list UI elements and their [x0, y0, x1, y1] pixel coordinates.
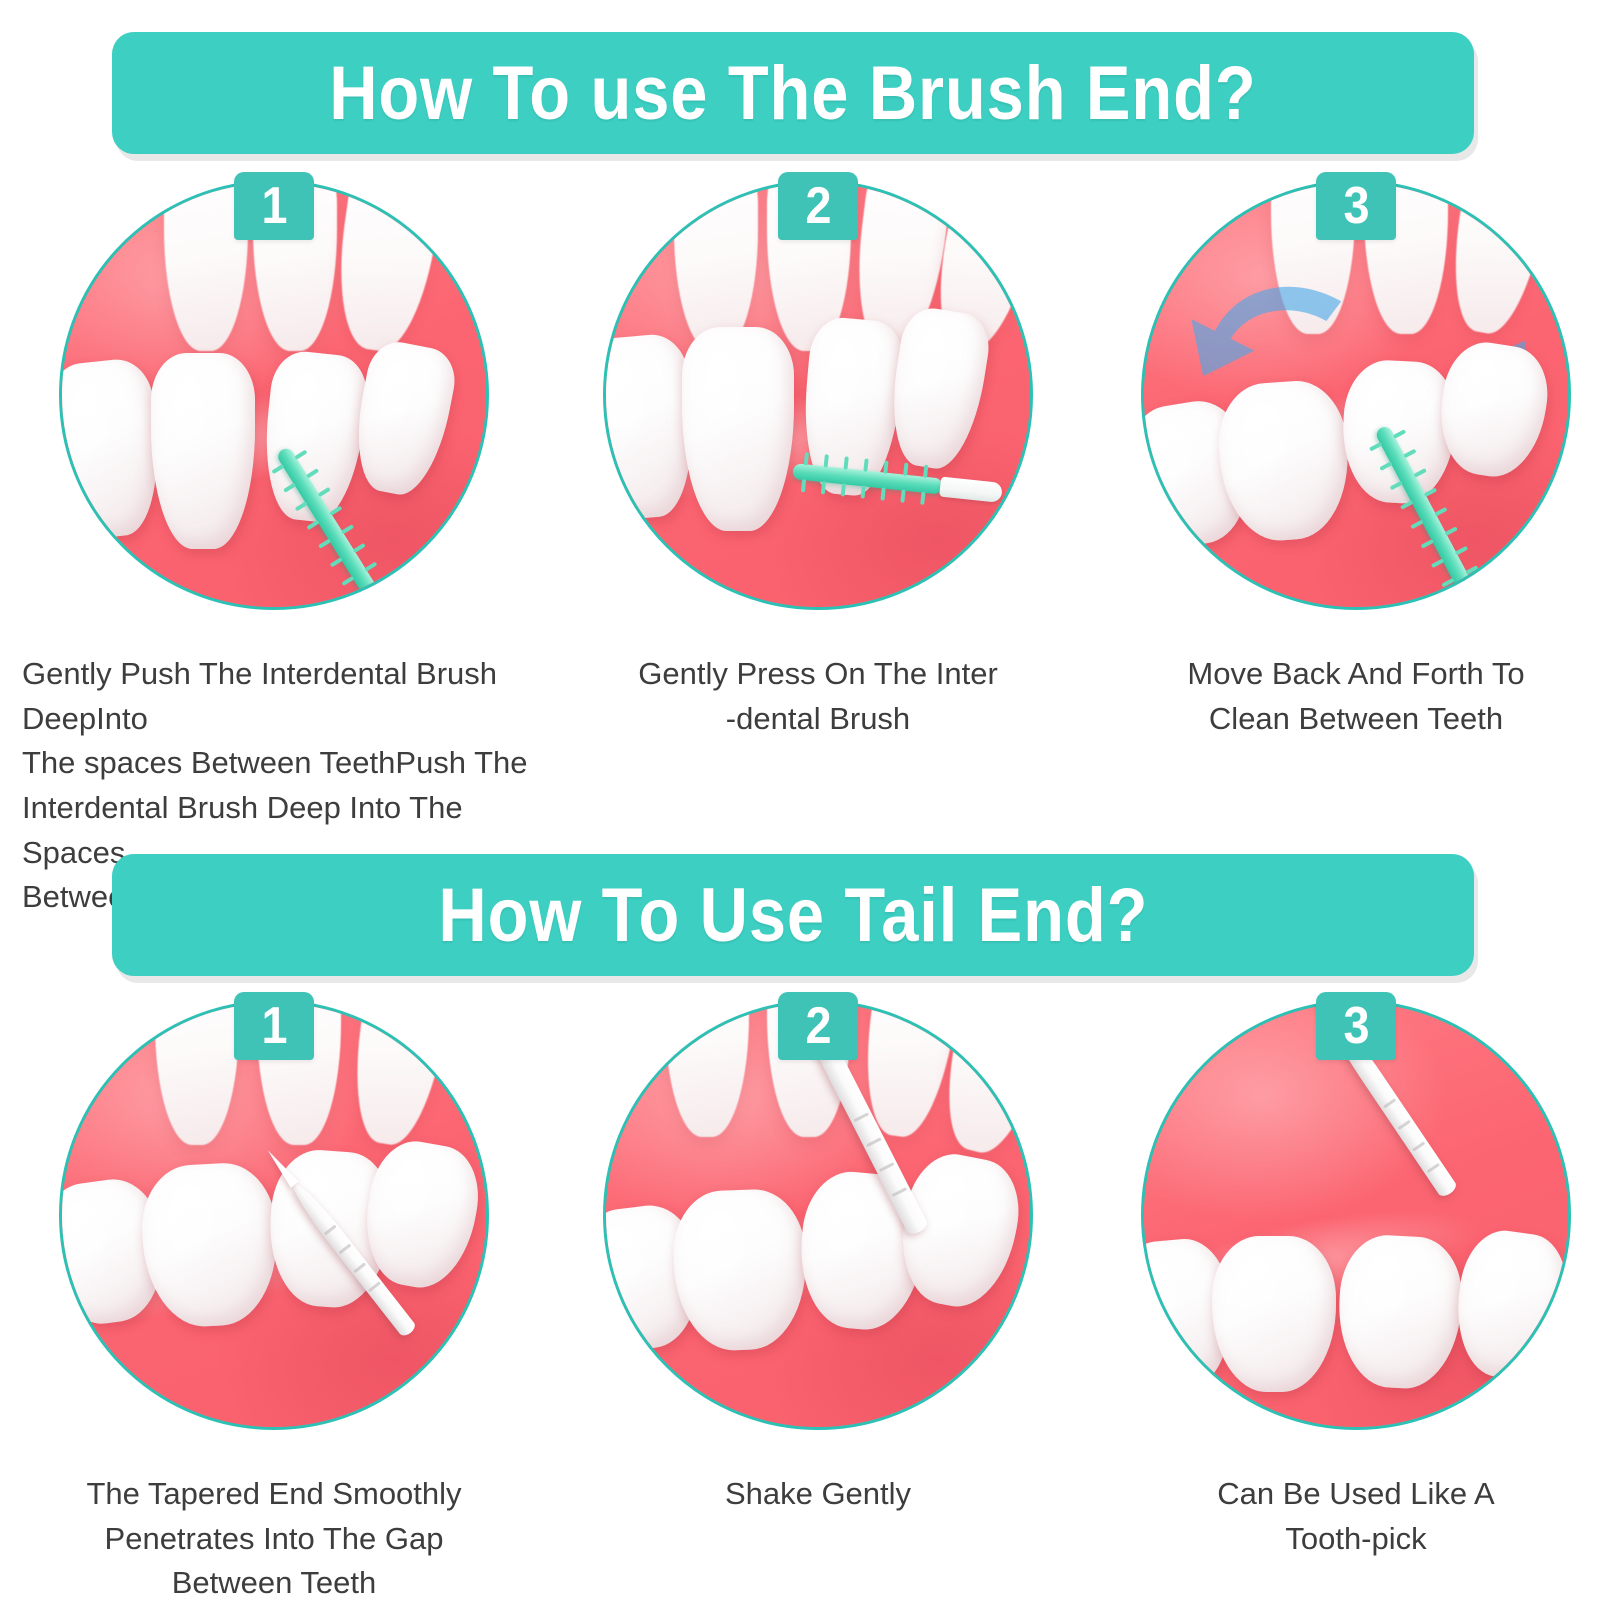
tooth-highlight	[163, 1183, 215, 1263]
step-number: 1	[261, 180, 287, 232]
tooth-highlight	[170, 376, 207, 470]
tooth-highlight	[385, 1155, 435, 1230]
banner-title-brush-end: How To use The Brush End?	[329, 50, 1256, 137]
step-card-brush-1: 1 Gently Push The Interdental Brush Deep…	[14, 180, 534, 920]
infographic-page: How To use The Brush End?	[0, 0, 1600, 1600]
circle-photo-tail-3	[1141, 1000, 1571, 1430]
circle-photo-tail-1	[59, 1000, 489, 1430]
section-banner-brush-end: How To use The Brush End?	[112, 32, 1474, 154]
tooth-highlight	[695, 1209, 745, 1287]
front-tooth	[682, 327, 794, 531]
front-tooth	[151, 353, 255, 549]
tooth-highlight	[908, 325, 951, 405]
step-number: 2	[805, 1000, 831, 1052]
circle-photo-brush-2	[603, 180, 1033, 610]
tooth-highlight	[281, 370, 324, 454]
tooth-highlight	[1234, 1255, 1279, 1330]
banner-title-tail-end: How To Use Tail End?	[438, 872, 1148, 959]
tooth-highlight	[921, 1168, 974, 1246]
step-card-brush-3: 3 Move Back And Forth To Clean Between T…	[1096, 180, 1600, 741]
arrow-left-icon	[1191, 287, 1341, 376]
section-banner-tail-end: How To Use Tail End?	[112, 854, 1474, 976]
step-number-badge: 2	[778, 992, 858, 1060]
step-number: 1	[261, 1000, 287, 1052]
step-caption-tail-1: The Tapered End Smoothly Penetrates Into…	[14, 1472, 534, 1600]
illustration-brush-1: 1	[59, 180, 489, 610]
illustration-tail-2: 2	[603, 1000, 1033, 1430]
step-caption-tail-3: Can Be Used Like A Tooth-pick	[1096, 1472, 1600, 1561]
tooth-highlight	[822, 1188, 872, 1266]
circle-photo-tail-2	[603, 1000, 1033, 1430]
step-number-badge: 1	[234, 172, 314, 240]
step-caption-tail-2: Shake Gently	[558, 1472, 1078, 1517]
tooth-highlight	[1458, 355, 1505, 423]
step-number-badge: 3	[1316, 172, 1396, 240]
tooth-highlight	[1239, 401, 1290, 480]
illustration-brush-3: 3	[1141, 180, 1571, 610]
tooth-highlight	[1141, 1258, 1180, 1333]
step-number-badge: 1	[234, 992, 314, 1060]
step-number: 3	[1343, 180, 1369, 232]
tooth-highlight	[821, 337, 862, 424]
step-number-badge: 2	[778, 172, 858, 240]
tooth-highlight	[372, 358, 417, 435]
circle-photo-brush-3	[1141, 180, 1571, 610]
step-card-brush-2: 2 Gently Press On The Inter -dental Brus…	[558, 180, 1078, 741]
step-card-tail-2: 2 Shake Gently	[558, 1000, 1078, 1517]
step-number-badge: 3	[1316, 992, 1396, 1060]
step-card-tail-1: 1 The Tapered End Smoothly Penetrates In…	[14, 1000, 534, 1600]
tooth-highlight	[702, 352, 742, 450]
front-tooth	[1212, 1236, 1336, 1392]
step-number: 2	[805, 180, 831, 232]
tooth-highlight	[603, 1223, 646, 1296]
tooth-highlight	[603, 357, 647, 447]
tooth-highlight	[1145, 420, 1198, 494]
illustration-tail-1: 1	[59, 1000, 489, 1430]
illustration-tail-3: 3	[1141, 1000, 1571, 1430]
step-caption-brush-2: Gently Press On The Inter -dental Brush	[558, 652, 1078, 741]
tooth-highlight	[1475, 1245, 1523, 1320]
step-card-tail-3: 3 Can Be Used Like A Tooth-pick	[1096, 1000, 1600, 1561]
tooth-highlight	[65, 382, 111, 470]
step-number: 3	[1343, 1000, 1369, 1052]
tooth-highlight	[59, 1198, 111, 1271]
tooth-highlight	[1360, 1252, 1408, 1327]
circle-photo-brush-1	[59, 180, 489, 610]
step-caption-brush-3: Move Back And Forth To Clean Between Tee…	[1096, 652, 1600, 741]
illustration-brush-2: 2	[603, 180, 1033, 610]
